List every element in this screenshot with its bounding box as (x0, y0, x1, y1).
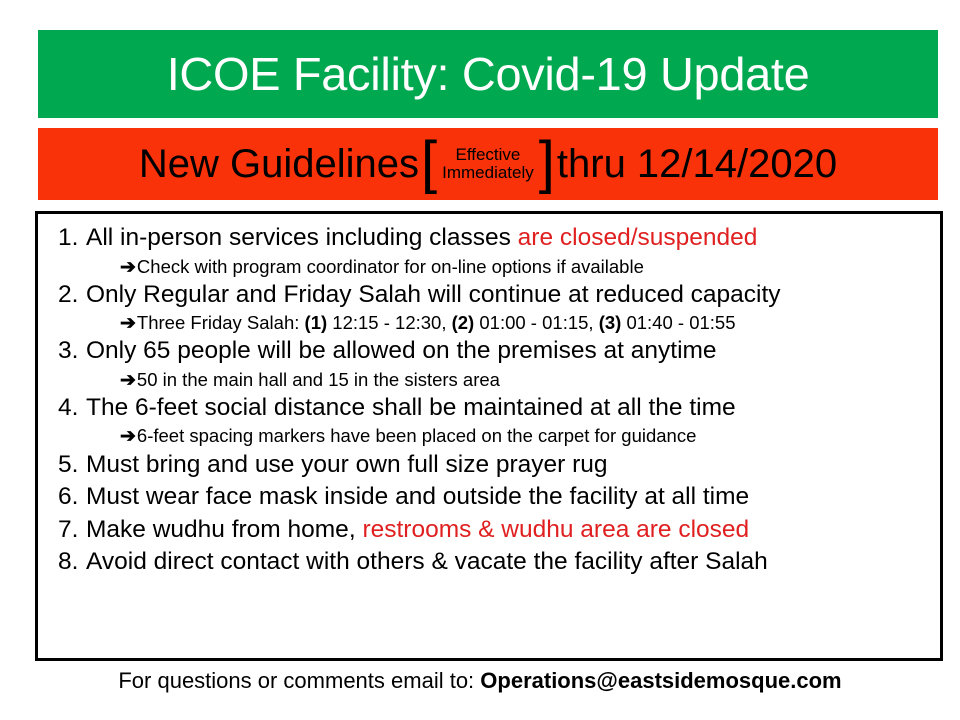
guidelines-box: 1. All in-person services including clas… (36, 212, 942, 660)
rule-main-line: 8. Avoid direct contact with others & va… (48, 546, 930, 579)
list-item: 3. Only 65 people will be allowed on the… (48, 335, 930, 392)
list-item: 6. Must wear face mask inside and outsid… (48, 481, 930, 514)
footer-label: For questions or comments email to: (118, 668, 480, 693)
arrow-icon: ➔ (120, 371, 137, 390)
rule-number: 5. (48, 449, 86, 482)
rule-text-plain: Must bring and use your own full size pr… (86, 451, 608, 478)
rule-text: The 6-feet social distance shall be main… (86, 392, 736, 425)
salah-time-1: 12:15 - 12:30, (327, 312, 451, 333)
subtitle-prefix: New Guidelines (139, 144, 419, 184)
rule-text: All in-person services including classes… (86, 222, 757, 255)
rule-main-line: 1. All in-person services including clas… (48, 222, 930, 255)
contact-email[interactable]: Operations@eastsidemosque.com (480, 668, 841, 693)
effective-immediately-note: Effective Immediately (439, 146, 537, 182)
rule-number: 6. (48, 481, 86, 514)
rule-main-line: 5. Must bring and use your own full size… (48, 449, 930, 482)
rule-text: Must bring and use your own full size pr… (86, 449, 608, 482)
rule-text-plain: Must wear face mask inside and outside t… (86, 483, 749, 510)
page-title: ICOE Facility: Covid-19 Update (167, 51, 810, 97)
list-item: 1. All in-person services including clas… (48, 222, 930, 279)
rule-text-plain: Avoid direct contact with others & vacat… (86, 548, 768, 575)
rule-sub-text: 6-feet spacing markers have been placed … (137, 424, 696, 448)
salah-marker-3: (3) (599, 312, 622, 333)
list-item: 5. Must bring and use your own full size… (48, 449, 930, 482)
arrow-icon: ➔ (120, 314, 137, 333)
effective-line-1: Effective (456, 146, 521, 164)
footer-contact: For questions or comments email to: Oper… (0, 668, 960, 694)
title-banner: ICOE Facility: Covid-19 Update (38, 30, 938, 118)
poster-canvas: ICOE Facility: Covid-19 Update New Guide… (0, 0, 960, 720)
rule-sub-line: ➔ 50 in the main hall and 15 in the sist… (48, 368, 930, 392)
rule-text-plain: All in-person services including classes (86, 224, 518, 251)
salah-marker-1: (1) (305, 312, 328, 333)
bracket-open: [ (419, 134, 439, 192)
rule-text: Make wudhu from home, restrooms & wudhu … (86, 514, 749, 547)
rule-main-line: 6. Must wear face mask inside and outsid… (48, 481, 930, 514)
rule-text-plain: The 6-feet social distance shall be main… (86, 394, 736, 421)
list-item: 8. Avoid direct contact with others & va… (48, 546, 930, 579)
rule-sub-line: ➔ Three Friday Salah: (1) 12:15 - 12:30,… (48, 311, 930, 335)
rule-text: Only Regular and Friday Salah will conti… (86, 279, 781, 312)
guidelines-list: 1. All in-person services including clas… (48, 222, 930, 579)
rule-text: Must wear face mask inside and outside t… (86, 481, 749, 514)
rule-text: Avoid direct contact with others & vacat… (86, 546, 768, 579)
rule-sub-text: Three Friday Salah: (1) 12:15 - 12:30, (… (137, 311, 736, 335)
rule-main-line: 2. Only Regular and Friday Salah will co… (48, 279, 930, 312)
arrow-icon: ➔ (120, 427, 137, 446)
rule-main-line: 4. The 6-feet social distance shall be m… (48, 392, 930, 425)
salah-time-3: 01:40 - 01:55 (621, 312, 735, 333)
salah-time-2: 01:00 - 01:15, (474, 312, 598, 333)
subtitle-row: New Guidelines [ Effective Immediately ]… (139, 135, 837, 193)
rule-number: 3. (48, 335, 86, 368)
rule-sub-text: Check with program coordinator for on-li… (137, 255, 644, 279)
rule-text-plain: Make wudhu from home, (86, 516, 362, 543)
subtitle-suffix: thru 12/14/2020 (557, 144, 837, 184)
rule-sub-line: ➔ Check with program coordinator for on-… (48, 255, 930, 279)
arrow-icon: ➔ (120, 258, 137, 277)
list-item: 7. Make wudhu from home, restrooms & wud… (48, 514, 930, 547)
rule-number: 8. (48, 546, 86, 579)
salah-marker-2: (2) (452, 312, 475, 333)
rule-number: 2. (48, 279, 86, 312)
subtitle-banner: New Guidelines [ Effective Immediately ]… (38, 128, 938, 200)
rule-number: 7. (48, 514, 86, 547)
rule-sub-line: ➔ 6-feet spacing markers have been place… (48, 424, 930, 448)
rule-main-line: 7. Make wudhu from home, restrooms & wud… (48, 514, 930, 547)
rule-text-plain: Only 65 people will be allowed on the pr… (86, 337, 717, 364)
rule-text: Only 65 people will be allowed on the pr… (86, 335, 717, 368)
friday-salah-label: Three Friday Salah: (137, 312, 305, 333)
bracket-close: ] (537, 134, 557, 192)
rule-text-emphasis: restrooms & wudhu area are closed (362, 516, 749, 543)
rule-text-plain: Only Regular and Friday Salah will conti… (86, 281, 781, 308)
rule-sub-text: 50 in the main hall and 15 in the sister… (137, 368, 500, 392)
rule-main-line: 3. Only 65 people will be allowed on the… (48, 335, 930, 368)
rule-number: 1. (48, 222, 86, 255)
rule-text-emphasis: are closed/suspended (518, 224, 758, 251)
effective-line-2: Immediately (442, 164, 534, 182)
list-item: 2. Only Regular and Friday Salah will co… (48, 279, 930, 336)
list-item: 4. The 6-feet social distance shall be m… (48, 392, 930, 449)
rule-number: 4. (48, 392, 86, 425)
